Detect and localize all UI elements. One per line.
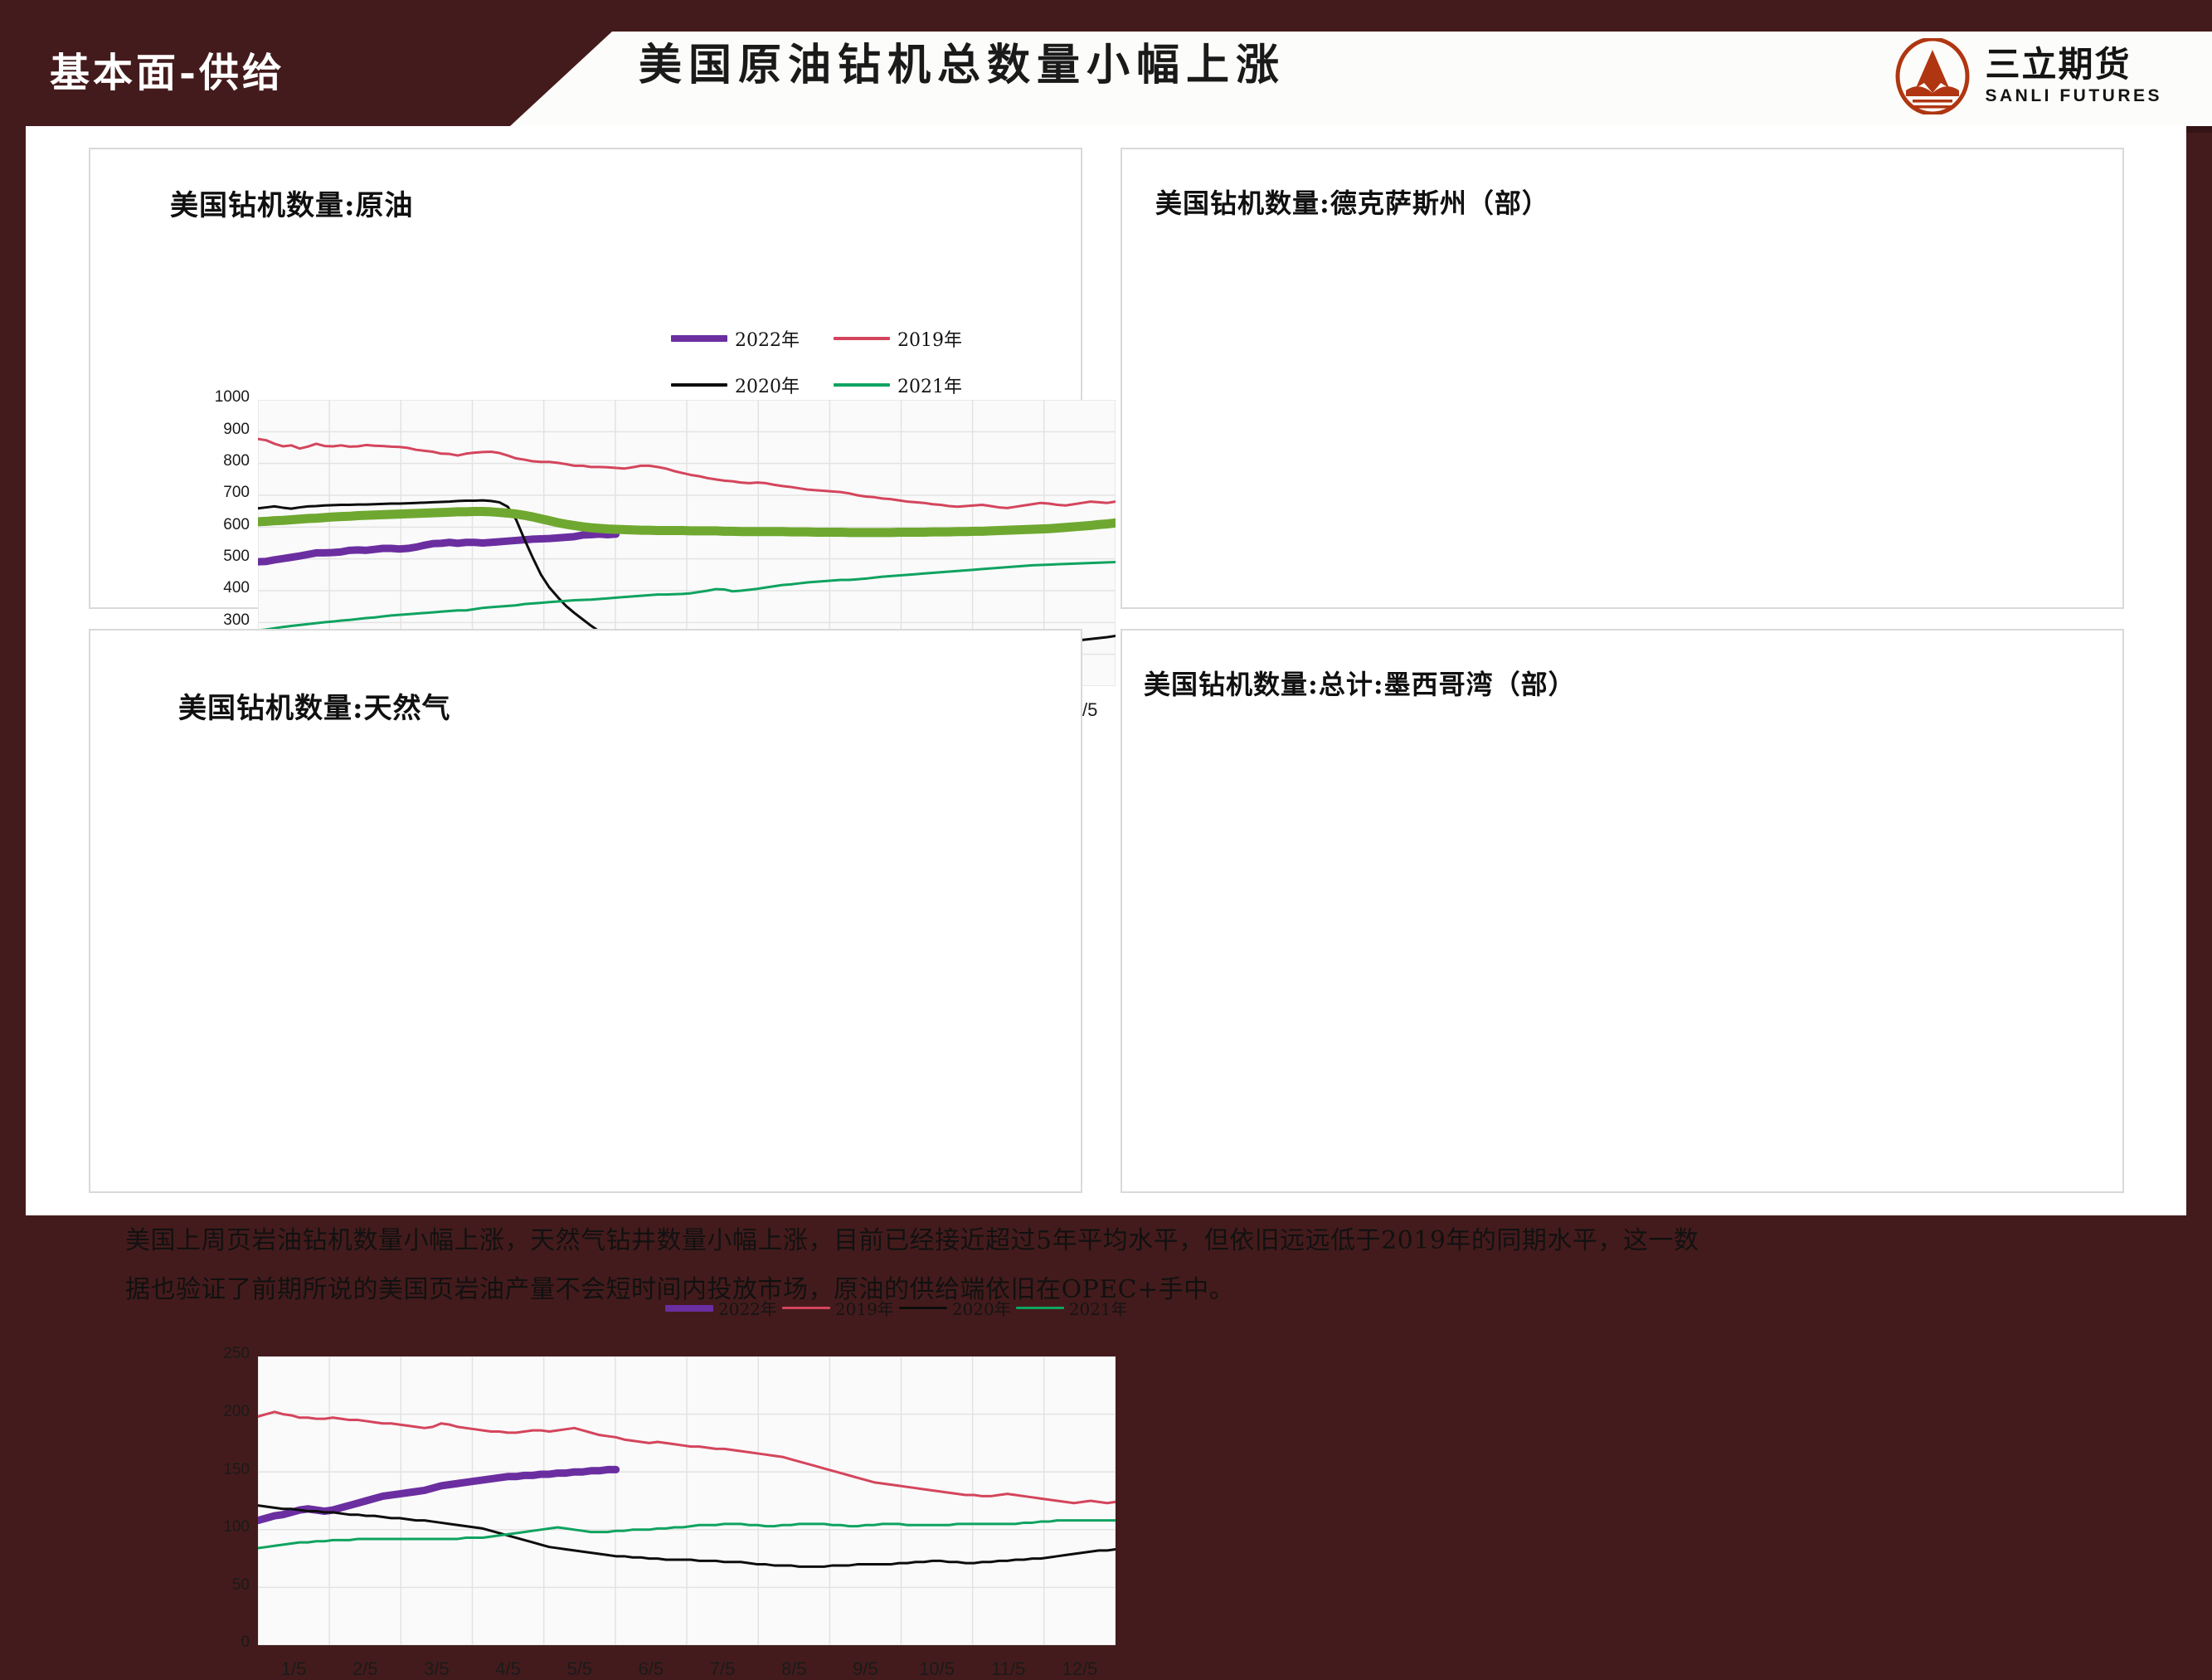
legend-swatch-2022 bbox=[671, 335, 727, 342]
legend-swatch-2020 bbox=[671, 383, 727, 387]
legend-swatch-2021 bbox=[834, 383, 890, 387]
x-axis-tick: 3/5 bbox=[399, 1658, 474, 1680]
brand-name-en: SANLI FUTURES bbox=[1986, 86, 2163, 106]
legend-label-2019: 2019年 bbox=[897, 325, 962, 352]
y-axis-tick: 600 bbox=[187, 516, 250, 534]
x-axis-tick: 11/5 bbox=[971, 1658, 1046, 1680]
x-axis-tick: 5/5 bbox=[542, 1658, 617, 1680]
chart-svg-natgas bbox=[258, 1356, 1116, 1645]
commentary-text: 美国上周页岩油钻机数量小幅上涨，天然气钻井数量小幅上涨，目前已经接近超过5年平均… bbox=[125, 1217, 2141, 1314]
y-axis-tick: 300 bbox=[187, 611, 250, 630]
x-axis-tick: 12/5 bbox=[1043, 1658, 1117, 1680]
brand-name-zh: 三立期货 bbox=[1986, 46, 2163, 83]
x-axis-tick: 2/5 bbox=[328, 1658, 402, 1680]
sanli-mountain-icon bbox=[1894, 38, 1971, 114]
y-axis-tick: 100 bbox=[187, 1518, 250, 1536]
chart-panel-gulf: 美国钻机数量:总计:墨西哥湾（部） 2022年 2019年 2020年 2021… bbox=[1121, 629, 2124, 1193]
x-axis-tick: 10/5 bbox=[900, 1658, 975, 1680]
x-axis-tick: 7/5 bbox=[685, 1658, 760, 1680]
y-axis-tick: 150 bbox=[187, 1461, 250, 1479]
x-axis-tick: 6/5 bbox=[614, 1658, 688, 1680]
page-title: 美国原油钻机总数量小幅上涨 bbox=[639, 30, 1286, 92]
brand-logo: 三立期货 SANLI FUTURES bbox=[1894, 38, 2163, 114]
commentary-line-2: 据也验证了前期所说的美国页岩油产量不会短时间内投放市场，原油的供给端依旧在OPE… bbox=[125, 1266, 2141, 1315]
plot-area-natgas: 2502001501005001/52/53/54/55/56/57/58/59… bbox=[258, 1356, 1116, 1645]
x-axis-tick: 9/5 bbox=[828, 1658, 902, 1680]
y-axis-tick: 900 bbox=[187, 421, 250, 439]
legend-label-2022: 2022年 bbox=[735, 325, 800, 352]
chart-title-gulf: 美国钻机数量:总计:墨西哥湾（部） bbox=[1144, 664, 1576, 702]
legend-item-2019[interactable]: 2019年 bbox=[834, 325, 996, 352]
slide-body: 美国钻机数量:原油 2022年 2019年 2020年 2021年 bbox=[26, 126, 2186, 1215]
legend-label-2020: 2020年 bbox=[735, 372, 800, 398]
y-axis-tick: 400 bbox=[187, 579, 250, 597]
x-axis-tick: 1/5 bbox=[256, 1658, 331, 1680]
y-axis-tick: 200 bbox=[187, 1403, 250, 1421]
legend-swatch-2019 bbox=[834, 337, 890, 340]
slide-header: 基本面-供给 美国原油钻机总数量小幅上涨 三立期货 SANLI FUTURES bbox=[0, 0, 2212, 126]
chart-panel-texas: 美国钻机数量:德克萨斯州（部） 2022年 2019年 2020年 2021年 bbox=[1121, 148, 2124, 609]
y-axis-tick: 0 bbox=[187, 1634, 250, 1652]
header-section-label: 基本面-供给 bbox=[50, 40, 285, 98]
y-axis-tick: 500 bbox=[187, 548, 250, 566]
slide: 基本面-供给 美国原油钻机总数量小幅上涨 三立期货 SANLI FUTURES … bbox=[0, 0, 2212, 1244]
chart-title-natgas: 美国钻机数量:天然气 bbox=[178, 685, 451, 726]
legend-item-2020[interactable]: 2020年 bbox=[671, 372, 834, 398]
y-axis-tick: 800 bbox=[187, 452, 250, 470]
legend-item-2021[interactable]: 2021年 bbox=[834, 372, 996, 398]
x-axis-tick: 8/5 bbox=[756, 1658, 831, 1680]
chart-title-crude: 美国钻机数量:原油 bbox=[170, 183, 414, 223]
commentary-line-1: 美国上周页岩油钻机数量小幅上涨，天然气钻井数量小幅上涨，目前已经接近超过5年平均… bbox=[125, 1217, 2141, 1266]
chart-panel-natgas: 美国钻机数量:天然气 2022年 2019年 2020年 2021年 bbox=[89, 629, 1082, 1193]
x-axis-tick: 4/5 bbox=[471, 1658, 546, 1680]
legend-label-2021: 2021年 bbox=[897, 372, 962, 398]
y-axis-tick: 250 bbox=[187, 1345, 250, 1363]
y-axis-tick: 1000 bbox=[187, 388, 250, 407]
chart-panel-crude: 美国钻机数量:原油 2022年 2019年 2020年 2021年 bbox=[89, 148, 1082, 609]
chart-title-texas: 美国钻机数量:德克萨斯州（部） bbox=[1155, 183, 1549, 221]
legend-item-2022[interactable]: 2022年 bbox=[671, 325, 834, 352]
y-axis-tick: 50 bbox=[187, 1576, 250, 1595]
y-axis-tick: 700 bbox=[187, 484, 250, 502]
